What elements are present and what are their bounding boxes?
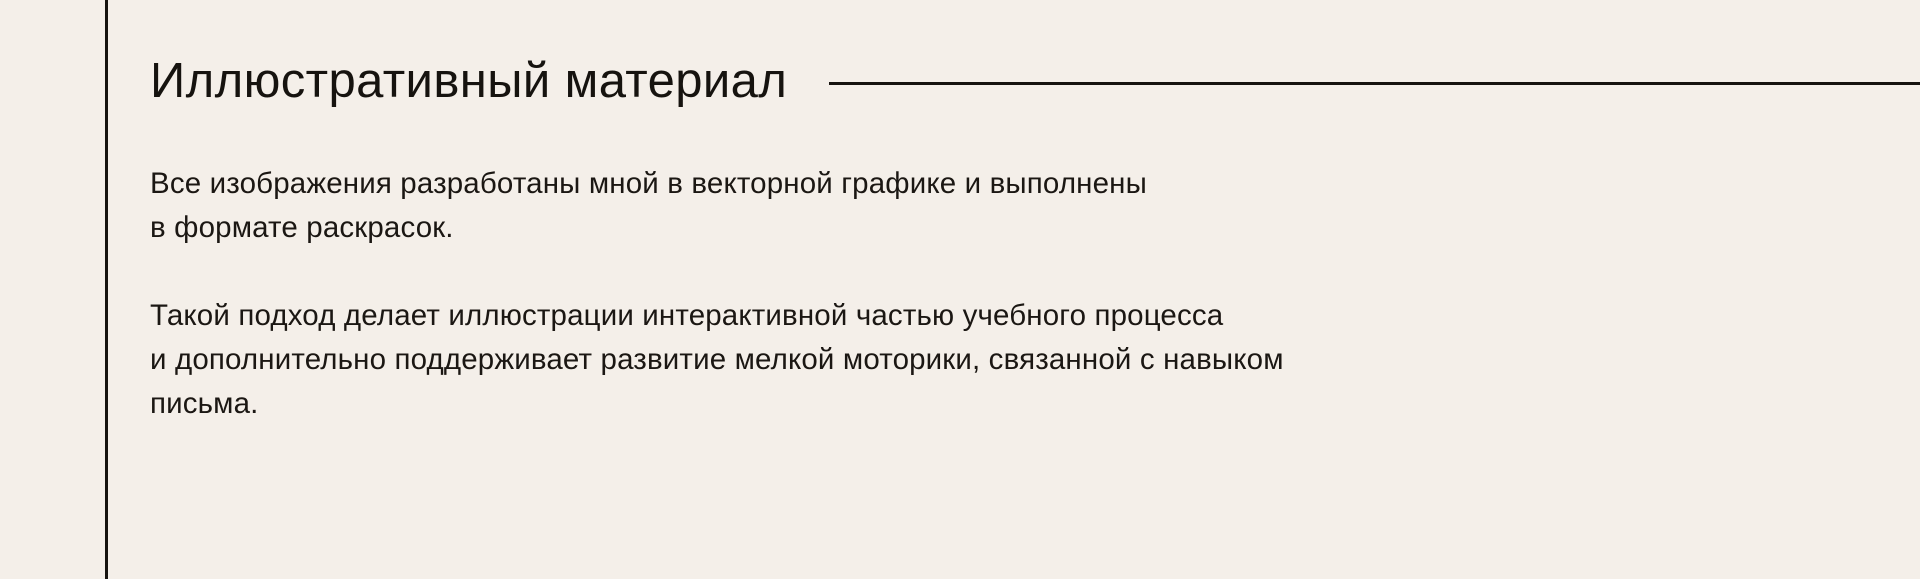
left-vertical-rule [105, 0, 108, 579]
slide-canvas: Иллюстративный материал Все изображения … [0, 0, 1920, 579]
paragraph-2: Такой подход делает иллюстрации интеракт… [150, 294, 1690, 426]
slide-header: Иллюстративный материал [150, 46, 1920, 116]
paragraph-1: Все изображения разработаны мной в векто… [150, 162, 1690, 250]
page-title: Иллюстративный материал [150, 57, 787, 106]
body-copy: Все изображения разработаны мной в векто… [150, 162, 1690, 426]
title-horizontal-rule [829, 82, 1920, 85]
